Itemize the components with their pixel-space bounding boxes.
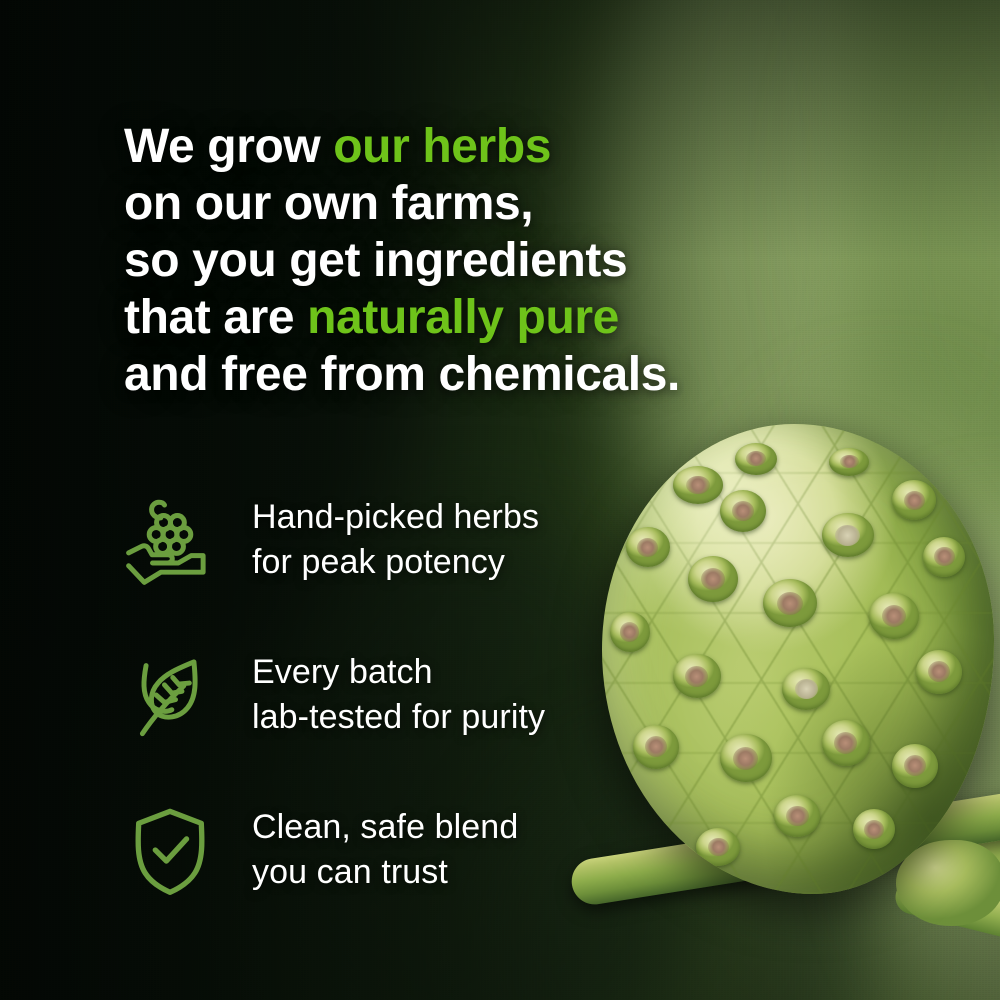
headline-line: so you get ingredients <box>124 232 804 289</box>
headline-text: so you get ingredients <box>124 234 627 287</box>
headline-accent-text: our herbs <box>333 120 551 173</box>
headline-line: and free from chemicals. <box>124 346 804 403</box>
feature-list: Hand-picked herbs for peak potency Every… <box>124 462 684 927</box>
headline-accent-text: naturally pure <box>307 291 619 344</box>
promo-banner: We grow our herbson our own farms,so you… <box>0 0 1000 1000</box>
feature-item: Hand-picked herbs for peak potency <box>124 462 684 617</box>
feature-text-line2: for peak potency <box>252 540 539 585</box>
headline-line: We grow our herbs <box>124 118 804 175</box>
hand-holding-herbs-icon <box>124 494 216 586</box>
feature-text-line2: you can trust <box>252 850 518 895</box>
feature-text: Hand-picked herbs for peak potency <box>252 495 539 585</box>
feature-text-line1: Every batch <box>252 650 545 695</box>
feature-text-line1: Hand-picked herbs <box>252 495 539 540</box>
headline-text: and free from chemicals. <box>124 348 680 401</box>
feature-item: Clean, safe blend you can trust <box>124 772 684 927</box>
headline-text: that are <box>124 291 307 344</box>
headline-line: on our own farms, <box>124 175 804 232</box>
feature-text-line2: lab-tested for purity <box>252 695 545 740</box>
headline-line: that are naturally pure <box>124 289 804 346</box>
leaf-icon <box>124 649 216 741</box>
headline-text: We grow <box>124 120 333 173</box>
shield-check-icon <box>124 804 216 896</box>
feature-item: Every batch lab-tested for purity <box>124 617 684 772</box>
feature-text: Clean, safe blend you can trust <box>252 805 518 895</box>
feature-text: Every batch lab-tested for purity <box>252 650 545 740</box>
feature-text-line1: Clean, safe blend <box>252 805 518 850</box>
headline: We grow our herbson our own farms,so you… <box>124 118 804 403</box>
headline-text: on our own farms, <box>124 177 533 230</box>
